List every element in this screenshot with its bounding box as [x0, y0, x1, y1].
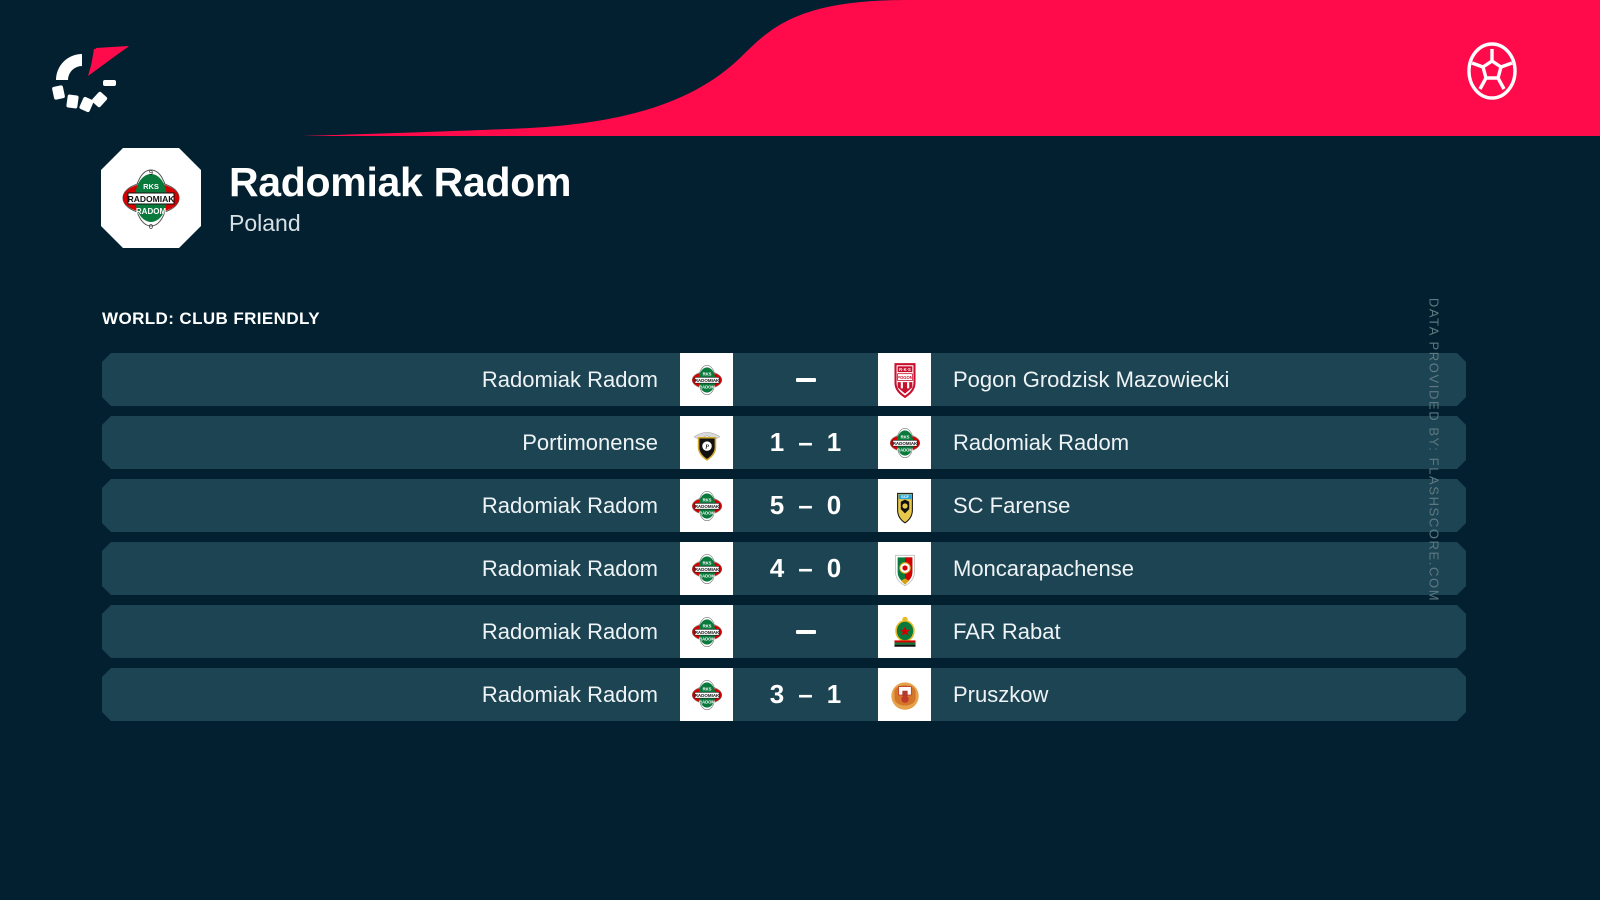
- svg-text:RKS: RKS: [900, 434, 909, 439]
- table-row[interactable]: Radomiak Radom RKS RADOMIAK RADOM: [102, 353, 1466, 406]
- competition-title: WORLD: CLUB FRIENDLY: [102, 309, 320, 329]
- away-team-name: SC Farense: [931, 479, 1466, 532]
- moncarapachense-crest-icon: [885, 549, 925, 589]
- flashscore-logo-icon: [44, 36, 132, 116]
- svg-text:RADOM: RADOM: [699, 699, 715, 704]
- svg-text:R·K·S: R·K·S: [899, 367, 911, 372]
- matches-list: Radomiak Radom RKS RADOMIAK RADOM: [102, 353, 1466, 721]
- svg-text:RADOM: RADOM: [699, 573, 715, 578]
- home-score: 3: [770, 679, 784, 710]
- away-score: 1: [827, 679, 841, 710]
- svg-text:RADOM: RADOM: [699, 510, 715, 515]
- svg-text:RKS: RKS: [143, 182, 159, 191]
- table-row[interactable]: Radomiak Radom RKS RADOMIAK RADOM 4 – 0: [102, 542, 1466, 595]
- home-team-name: Radomiak Radom: [102, 605, 680, 658]
- score-cell: 3 – 1: [733, 668, 878, 721]
- home-crest-cell: RKS RADOMIAK RADOM: [680, 542, 733, 595]
- radomiak-radom-crest-icon: RKS RADOMIAK RADOM: [687, 549, 727, 589]
- home-crest-cell: RKS RADOMIAK RADOM: [680, 479, 733, 532]
- away-crest-cell: [878, 542, 931, 595]
- pogon-grodzisk-crest-icon: R·K·S POGON: [885, 360, 925, 400]
- away-team-name: FAR Rabat: [931, 605, 1466, 658]
- away-team-name: Radomiak Radom: [931, 416, 1466, 469]
- table-row[interactable]: Radomiak Radom RKS RADOMIAK RADOM 3 – 1: [102, 668, 1466, 721]
- svg-text:RADOM: RADOM: [136, 207, 167, 216]
- svg-text:RADOMIAK: RADOMIAK: [892, 441, 917, 446]
- svg-text:RADOM: RADOM: [897, 447, 913, 452]
- home-team-name: Radomiak Radom: [102, 479, 680, 532]
- score-cell: 4 – 0: [733, 542, 878, 595]
- portimonense-crest-icon: P: [687, 423, 727, 463]
- home-team-name: Radomiak Radom: [102, 542, 680, 595]
- home-crest-cell: RKS RADOMIAK RADOM: [680, 353, 733, 406]
- away-score: 0: [827, 553, 841, 584]
- home-crest-cell: RKS RADOMIAK RADOM: [680, 605, 733, 658]
- home-score: 1: [770, 427, 784, 458]
- svg-text:RADOMIAK: RADOMIAK: [694, 693, 719, 698]
- home-team-name: Radomiak Radom: [102, 353, 680, 406]
- score-placeholder-dash: [796, 378, 816, 382]
- pruszkow-crest-icon: [885, 675, 925, 715]
- svg-text:RKS: RKS: [702, 497, 711, 502]
- svg-text:1: 1: [119, 196, 123, 203]
- svg-text:POGON: POGON: [897, 374, 913, 379]
- svg-text:RKS: RKS: [702, 371, 711, 376]
- away-score: 1: [827, 427, 841, 458]
- data-source-watermark: DATA PROVIDED BY: FLASHSCORE.COM: [1426, 298, 1441, 602]
- home-team-name: Portimonense: [102, 416, 680, 469]
- svg-text:RKS: RKS: [702, 623, 711, 628]
- radomiak-radom-crest-icon: RKS RADOMIAK RADOM: [687, 360, 727, 400]
- svg-text:RKS: RKS: [702, 686, 711, 691]
- club-country: Poland: [229, 212, 571, 235]
- club-header: RKS RADOMIAK RADOM 9 0 1 1 Radomiak Rado…: [101, 148, 571, 248]
- home-score: 5: [770, 490, 784, 521]
- radomiak-radom-crest-icon: RKS RADOMIAK RADOM: [885, 423, 925, 463]
- svg-text:0: 0: [149, 224, 153, 231]
- away-score: 0: [827, 490, 841, 521]
- svg-text:RADOMIAK: RADOMIAK: [128, 194, 176, 204]
- svg-text:RADOMIAK: RADOMIAK: [694, 567, 719, 572]
- svg-text:RADOMIAK: RADOMIAK: [694, 504, 719, 509]
- home-crest-cell: RKS RADOMIAK RADOM: [680, 668, 733, 721]
- radomiak-radom-crest-icon: RKS RADOMIAK RADOM 9 0 1 1: [113, 160, 189, 236]
- table-row[interactable]: Radomiak Radom RKS RADOMIAK RADOM: [102, 605, 1466, 658]
- score-separator: –: [798, 553, 812, 584]
- score-separator: –: [798, 679, 812, 710]
- page-title: Radomiak Radom: [229, 161, 571, 204]
- away-crest-cell: RKS RADOMIAK RADOM: [878, 416, 931, 469]
- away-team-name: Moncarapachense: [931, 542, 1466, 595]
- far-rabat-crest-icon: [885, 612, 925, 652]
- svg-text:P: P: [705, 444, 709, 450]
- away-crest-cell: [878, 605, 931, 658]
- svg-text:SCF: SCF: [901, 494, 909, 499]
- score-cell: 1 – 1: [733, 416, 878, 469]
- score-separator: –: [798, 427, 812, 458]
- svg-text:RADOMIAK: RADOMIAK: [694, 630, 719, 635]
- club-text-block: Radomiak Radom Poland: [229, 161, 571, 235]
- score-cell: [733, 353, 878, 406]
- away-crest-cell: SCF: [878, 479, 931, 532]
- away-team-name: Pogon Grodzisk Mazowiecki: [931, 353, 1466, 406]
- score-cell: 5 – 0: [733, 479, 878, 532]
- radomiak-radom-crest-icon: RKS RADOMIAK RADOM: [687, 675, 727, 715]
- away-crest-cell: [878, 668, 931, 721]
- score-placeholder-dash: [796, 630, 816, 634]
- away-crest-cell: R·K·S POGON: [878, 353, 931, 406]
- sc-farense-crest-icon: SCF: [885, 486, 925, 526]
- table-row[interactable]: Radomiak Radom RKS RADOMIAK RADOM 5 – 0: [102, 479, 1466, 532]
- header-banner: [0, 0, 1600, 136]
- svg-text:RADOM: RADOM: [699, 384, 715, 389]
- home-crest-cell: P: [680, 416, 733, 469]
- svg-text:9: 9: [149, 170, 153, 177]
- football-icon: [1462, 41, 1522, 101]
- club-crest-tile: RKS RADOMIAK RADOM 9 0 1 1: [101, 148, 201, 248]
- score-separator: –: [798, 490, 812, 521]
- svg-text:RKS: RKS: [702, 560, 711, 565]
- home-team-name: Radomiak Radom: [102, 668, 680, 721]
- svg-text:1: 1: [179, 196, 183, 203]
- home-score: 4: [770, 553, 784, 584]
- away-team-name: Pruszkow: [931, 668, 1466, 721]
- score-cell: [733, 605, 878, 658]
- table-row[interactable]: Portimonense P 1 – 1: [102, 416, 1466, 469]
- radomiak-radom-crest-icon: RKS RADOMIAK RADOM: [687, 486, 727, 526]
- radomiak-radom-crest-icon: RKS RADOMIAK RADOM: [687, 612, 727, 652]
- svg-text:RADOMIAK: RADOMIAK: [694, 378, 719, 383]
- page-root: RKS RADOMIAK RADOM 9 0 1 1 Radomiak Rado…: [0, 0, 1600, 900]
- svg-text:RADOM: RADOM: [699, 636, 715, 641]
